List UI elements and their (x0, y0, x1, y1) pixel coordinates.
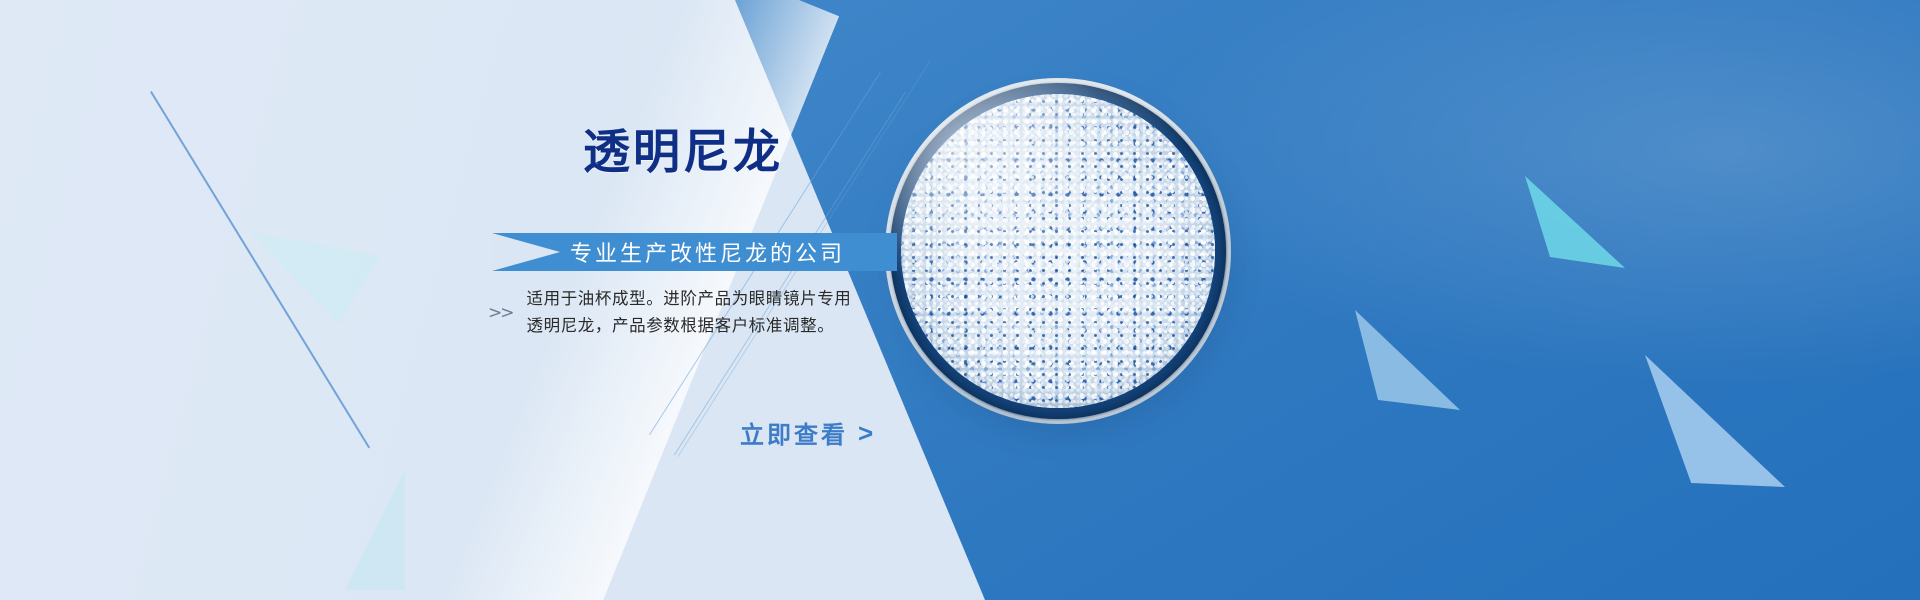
subtitle-text: 专业生产改性尼龙的公司 (570, 236, 845, 268)
chevron-right-icon (492, 233, 560, 271)
hero-banner: 透明尼龙 专业生产改性尼龙的公司 >> 适用于油杯成型。进阶产品为眼睛镜片专用 … (0, 0, 1920, 600)
banner-content: 透明尼龙 专业生产改性尼龙的公司 >> 适用于油杯成型。进阶产品为眼睛镜片专用 … (0, 0, 1000, 600)
subtitle-banner: 专业生产改性尼龙的公司 (492, 233, 897, 271)
cta-label: 立即查看 (740, 415, 848, 450)
view-now-button[interactable]: 立即查看 > (740, 415, 876, 450)
page-title: 透明尼龙 (583, 128, 783, 175)
description-line-1: 适用于油杯成型。进阶产品为眼睛镜片专用 (527, 286, 852, 313)
arrow-right-icon: > (858, 420, 876, 446)
double-chevron-icon: >> (488, 303, 513, 323)
description-text: 适用于油杯成型。进阶产品为眼睛镜片专用 透明尼龙，产品参数根据客户标准调整。 (527, 286, 852, 340)
description-line-2: 透明尼龙，产品参数根据客户标准调整。 (527, 313, 852, 340)
description-block: >> 适用于油杯成型。进阶产品为眼睛镜片专用 透明尼龙，产品参数根据客户标准调整… (488, 286, 851, 340)
